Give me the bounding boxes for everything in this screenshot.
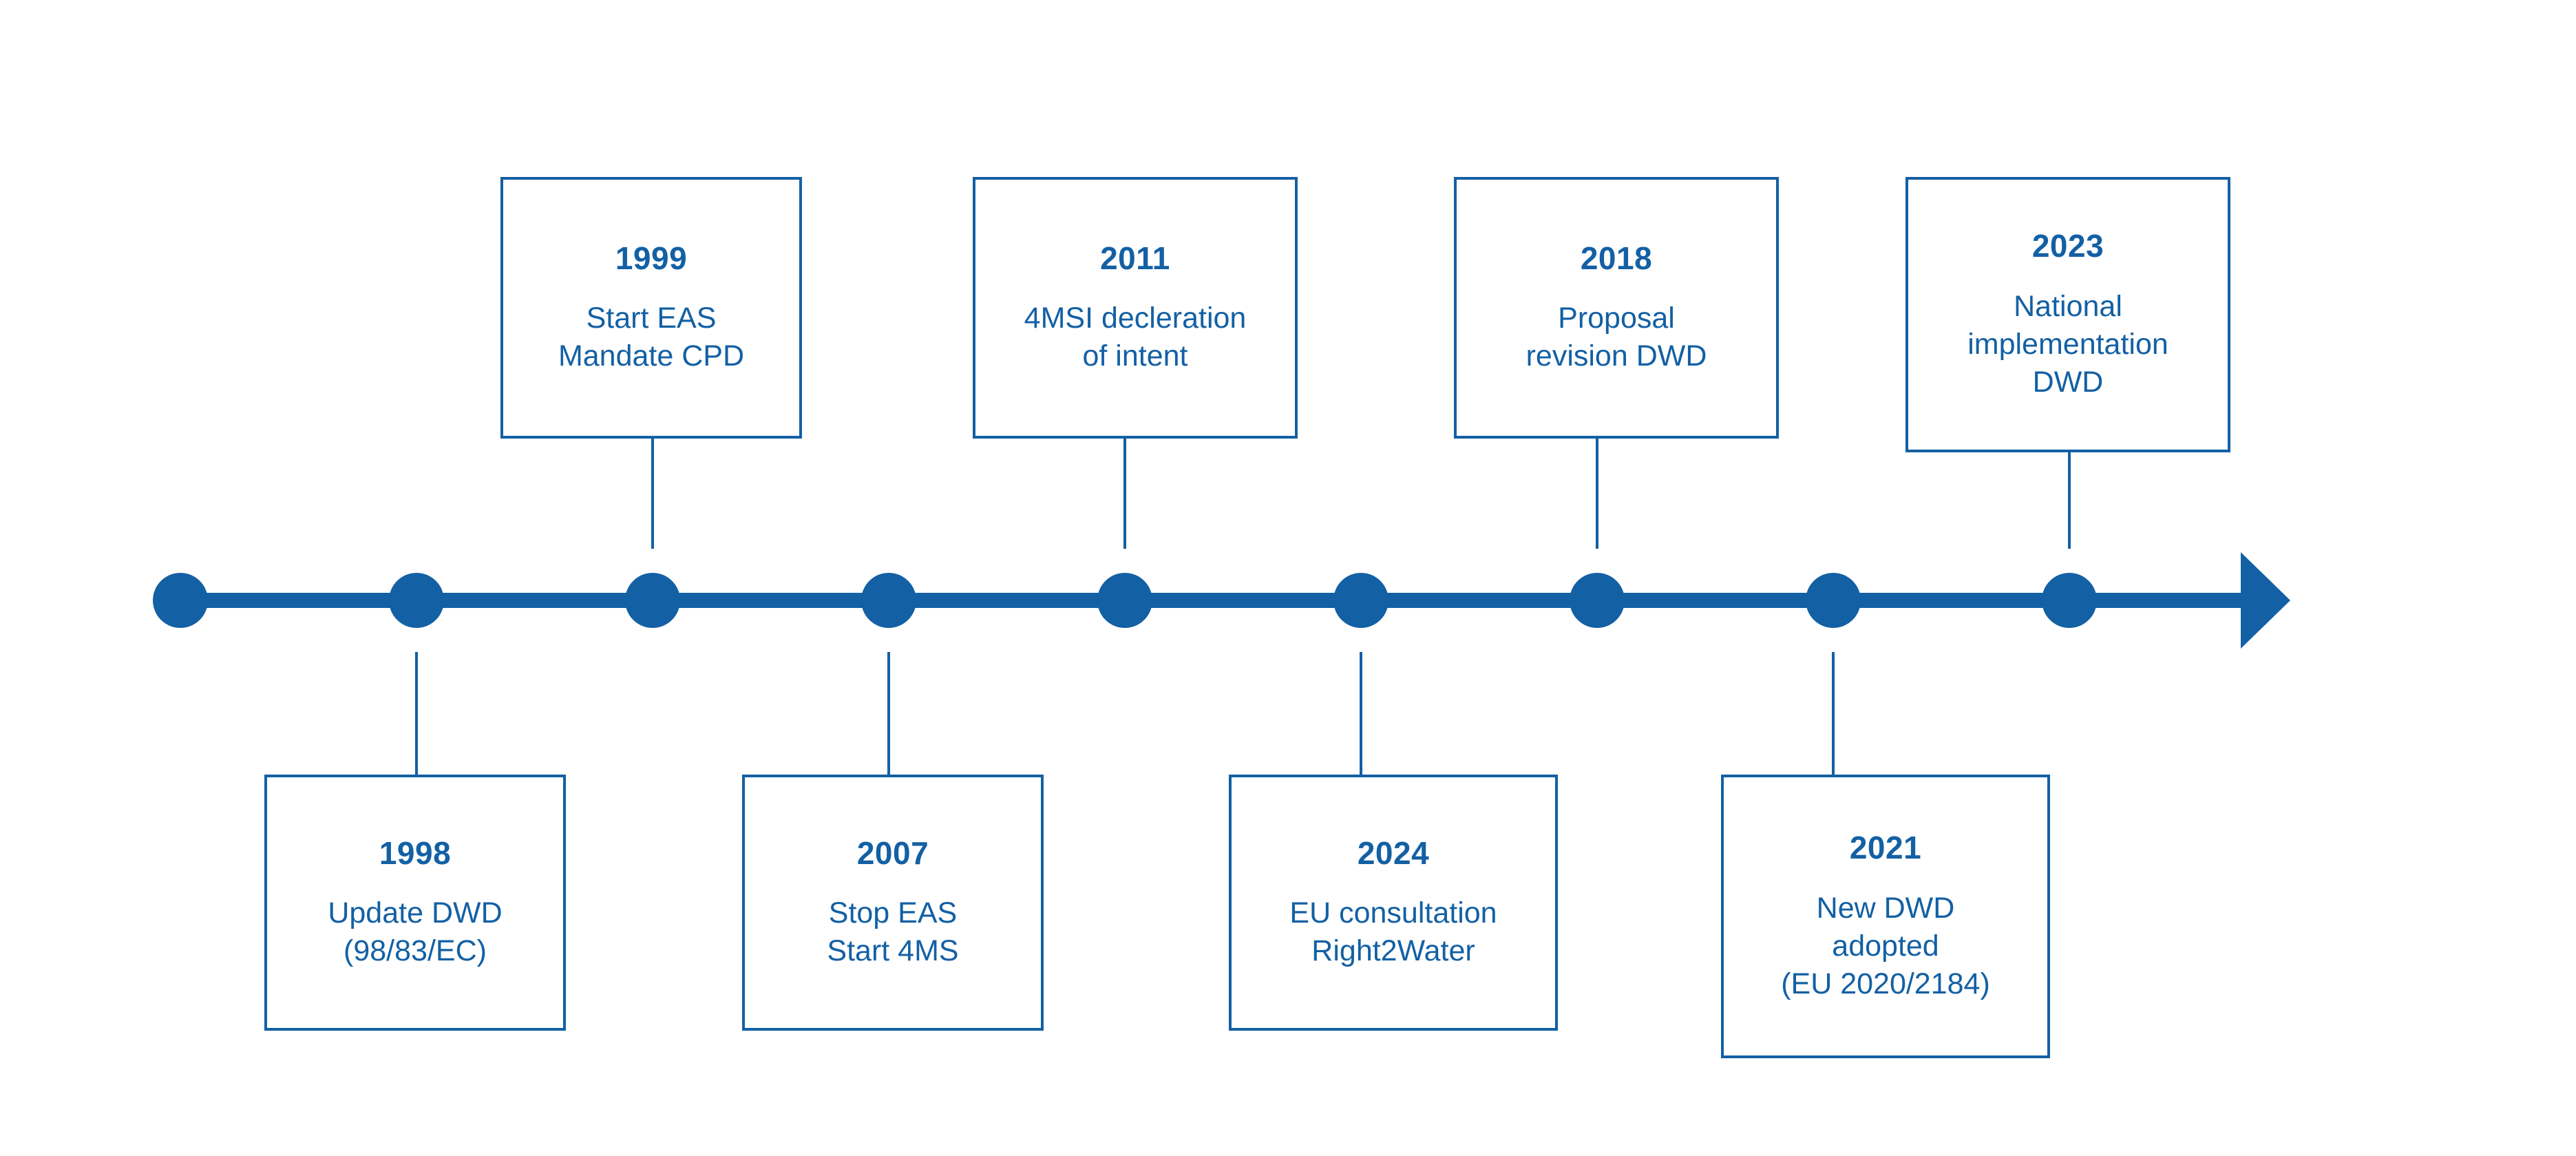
event-year-2023: 2023 [2032, 228, 2104, 264]
connector-1999 [651, 439, 654, 549]
event-year-2018: 2018 [1581, 240, 1652, 277]
connector-2011 [1123, 439, 1126, 549]
connector-2018 [1596, 439, 1598, 549]
event-year-2007: 2007 [857, 835, 929, 872]
event-year-2021: 2021 [1850, 830, 1921, 866]
event-description-2018: Proposal revision DWD [1526, 299, 1707, 375]
timeline-dot-4[interactable] [861, 573, 916, 628]
timeline-dot-7[interactable] [1570, 573, 1625, 628]
timeline-dot-9[interactable] [2042, 573, 2097, 628]
timeline-dot-5[interactable] [1097, 573, 1152, 628]
connector-2007 [887, 652, 890, 775]
connector-2024 [1360, 652, 1362, 775]
event-description-2021: New DWD adopted (EU 2020/2184) [1781, 890, 1990, 1003]
event-box-1999[interactable]: 1999 Start EAS Mandate CPD [500, 177, 802, 439]
timeline-axis-line [165, 593, 2244, 608]
event-box-1998[interactable]: 1998 Update DWD (98/83/EC) [264, 775, 566, 1031]
event-box-2018[interactable]: 2018 Proposal revision DWD [1454, 177, 1779, 439]
event-description-2024: EU consultation Right2Water [1289, 894, 1497, 970]
event-description-1999: Start EAS Mandate CPD [558, 299, 744, 375]
event-description-2011: 4MSI decleration of intent [1024, 299, 1247, 375]
timeline-dot-8[interactable] [1806, 573, 1861, 628]
event-box-2011[interactable]: 2011 4MSI decleration of intent [973, 177, 1298, 439]
event-year-1998: 1998 [379, 835, 451, 872]
timeline-diagram: 1999 Start EAS Mandate CPD 2011 4MSI dec… [0, 0, 2576, 1156]
connector-2021 [1832, 652, 1835, 775]
event-year-2011: 2011 [1100, 240, 1170, 277]
event-box-2021[interactable]: 2021 New DWD adopted (EU 2020/2184) [1721, 775, 2050, 1058]
connector-2023 [2068, 452, 2071, 549]
event-year-2024: 2024 [1358, 835, 1429, 872]
arrow-right-icon [2241, 552, 2290, 649]
timeline-dot-2[interactable] [389, 573, 444, 628]
event-description-2007: Stop EAS Start 4MS [827, 894, 958, 970]
connector-1998 [415, 652, 418, 775]
event-year-1999: 1999 [615, 240, 687, 277]
timeline-dot-6[interactable] [1333, 573, 1389, 628]
event-box-2024[interactable]: 2024 EU consultation Right2Water [1229, 775, 1558, 1031]
event-box-2007[interactable]: 2007 Stop EAS Start 4MS [742, 775, 1044, 1031]
timeline-dot-1[interactable] [153, 573, 208, 628]
timeline-dot-3[interactable] [625, 573, 680, 628]
event-description-1998: Update DWD (98/83/EC) [328, 894, 502, 970]
event-description-2023: National implementation DWD [1967, 288, 2168, 401]
event-box-2023[interactable]: 2023 National implementation DWD [1905, 177, 2230, 452]
